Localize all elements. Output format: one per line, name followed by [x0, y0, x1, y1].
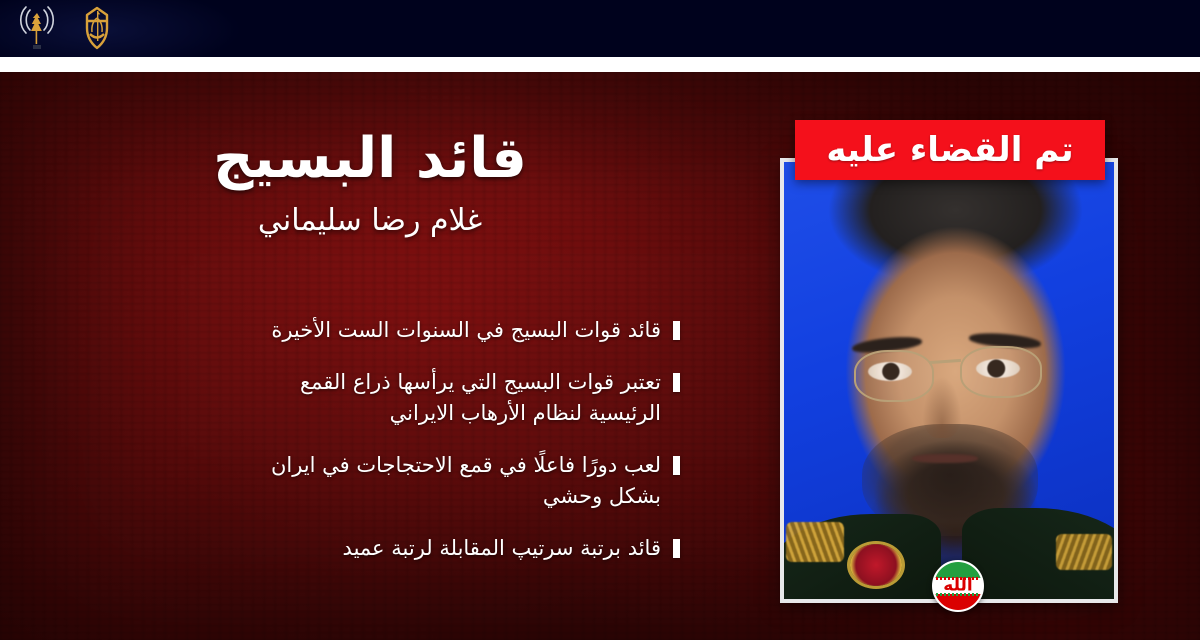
- eyeglass-bridge: [929, 359, 961, 364]
- iran-flag-badge: الله: [932, 560, 984, 612]
- list-item-label: لعب دورًا فاعلًا في قمع الاحتجاجات في اي…: [60, 450, 661, 511]
- bullet-marker-icon: [673, 321, 680, 340]
- bullet-marker-icon: [673, 373, 680, 392]
- list-item-label: قائد برتبة سرتيپ المقابلة لرتبة عميد: [60, 533, 661, 563]
- status-badge-label: تم القضاء عليه: [826, 133, 1073, 167]
- epaulette-right: [1056, 534, 1112, 570]
- broadcast-tower-icon: [14, 4, 60, 54]
- bullet-list: قائد قوات البسيج في السنوات الست الأخيرة…: [60, 315, 680, 586]
- flag-emblem-icon: الله: [943, 578, 972, 595]
- flag-stripe-red: [934, 594, 982, 610]
- uniform-medal: [850, 544, 902, 586]
- page-title: قائد البسيج: [60, 130, 680, 189]
- bullet-marker-icon: [673, 456, 680, 475]
- poster-card: قائد البسيج غلام رضا سليماني قائد قوات ا…: [0, 0, 1200, 640]
- status-badge: تم القضاء عليه: [795, 120, 1105, 180]
- portrait-frame: [780, 158, 1118, 603]
- title-block: قائد البسيج غلام رضا سليماني: [60, 130, 680, 240]
- top-header-bar: [0, 0, 1200, 57]
- header-logo-group: [14, 0, 120, 57]
- epaulette-left: [786, 522, 844, 562]
- list-item: قائد برتبة سرتيپ المقابلة لرتبة عميد: [60, 533, 680, 563]
- list-item: قائد قوات البسيج في السنوات الست الأخيرة: [60, 315, 680, 345]
- bullet-marker-icon: [673, 539, 680, 558]
- header-divider-strip: [0, 57, 1200, 72]
- mouth-shape: [912, 454, 978, 463]
- list-item-label: تعتبر قوات البسيج التي يرأسها ذراع القمع…: [60, 367, 661, 428]
- list-item-label: قائد قوات البسيج في السنوات الست الأخيرة: [60, 315, 661, 345]
- portrait-photo: [784, 162, 1114, 599]
- idf-emblem-icon: [74, 4, 120, 54]
- nose-shape: [922, 376, 962, 438]
- subject-name: غلام رضا سليماني: [60, 201, 680, 240]
- list-item: لعب دورًا فاعلًا في قمع الاحتجاجات في اي…: [60, 450, 680, 511]
- eyeglass-lens-right: [960, 346, 1042, 398]
- list-item: تعتبر قوات البسيج التي يرأسها ذراع القمع…: [60, 367, 680, 428]
